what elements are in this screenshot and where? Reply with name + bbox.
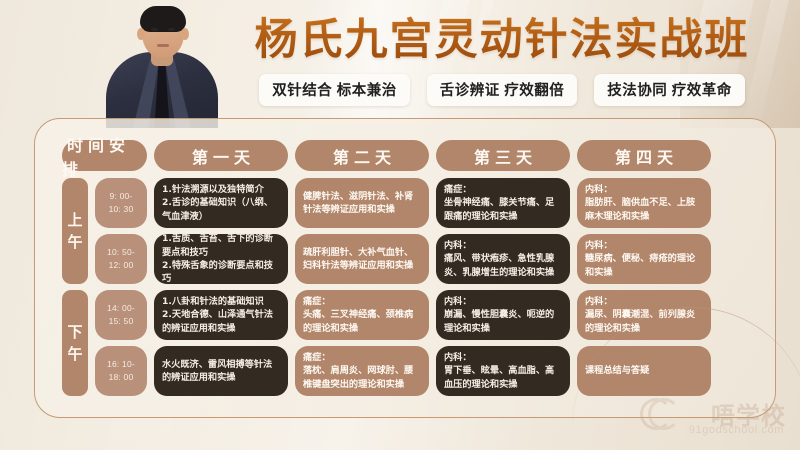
time-slot-group-afternoon: 14: 00- 15: 50 16: 10- 18: 00 [95, 290, 147, 396]
schedule-cell-d2-s1: 健脾针法、滋阴针法、补肾针法等辨证应用和实操 [295, 178, 429, 228]
time-slot-start: 14: 00- [107, 302, 135, 315]
time-slot-end: 10: 30 [109, 203, 134, 216]
period-label-morning: 上 午 [62, 178, 88, 284]
poster-root: 杨氏九宫灵动针法实战班 双针结合 标本兼治 舌诊辨证 疗效翻倍 技法协同 疗效革… [0, 0, 800, 450]
watermark: 唔学校 91godschool.com [640, 396, 790, 442]
cell-lead: 痛症： [303, 351, 421, 364]
time-column-afternoon: 下 午 14: 00- 15: 50 16: 10- 18: 00 [62, 290, 147, 396]
watermark-brand-en: 91godschool.com [689, 424, 784, 436]
schedule-cell-d2-s2: 疏肝利胆针、大补气血针、妇科针法等辨证应用和实操 [295, 234, 429, 284]
cell-body: 1.舌质、舌苔、舌下的诊断要点和技巧2.特殊舌象的诊断要点和技巧 [162, 232, 280, 285]
time-slot-start: 10: 50- [107, 246, 135, 259]
schedule-cell-d3-s3: 内科： 崩漏、慢性胆囊炎、呃逆的理论和实操 [436, 290, 570, 340]
time-slot-start: 9: 00- [110, 190, 133, 203]
time-column-morning: 上 午 9: 00- 10: 30 10: 50- 12: 00 [62, 178, 147, 284]
schedule-cell-d3-s2: 内科： 痛风、带状疱疹、急性乳腺炎、乳腺增生的理论和实操 [436, 234, 570, 284]
period-char: 下 [67, 321, 82, 344]
cell-body: 崩漏、慢性胆囊炎、呃逆的理论和实操 [444, 308, 562, 335]
schedule-cell-d4-s2: 内科： 糖尿病、便秘、痔疮的理论和实操 [577, 234, 711, 284]
time-slot-2: 10: 50- 12: 00 [95, 234, 147, 284]
time-slot-3: 14: 00- 15: 50 [95, 290, 147, 340]
table-row: 上 午 9: 00- 10: 30 10: 50- 12: 00 [62, 178, 768, 284]
schedule-cell-d3-s1: 痛症： 坐骨神经痛、膝关节痛、足跟痛的理论和实操 [436, 178, 570, 228]
page-title: 杨氏九宫灵动针法实战班 [222, 8, 782, 64]
schedule-cell-d1-s4: 水火既济、雷风相搏等针法的辨证应用和实操 [154, 346, 288, 396]
schedule-cell-d1-s2: 1.舌质、舌苔、舌下的诊断要点和技巧2.特殊舌象的诊断要点和技巧 [154, 234, 288, 284]
column-header-day1: 第一天 [154, 140, 288, 171]
cell-lead: 内科： [444, 351, 562, 364]
cell-body: 疏肝利胆针、大补气血针、妇科针法等辨证应用和实操 [303, 246, 421, 273]
period-label-afternoon: 下 午 [62, 290, 88, 396]
period-char: 上 [67, 209, 82, 232]
cell-body: 脂肪肝、脑供血不足、上肢麻木理论和实操 [585, 196, 703, 223]
tagline-pill-1: 双针结合 标本兼治 [259, 74, 410, 106]
schedule-cell-d2-s3: 痛症： 头痛、三叉神经痛、颈椎病的理论和实操 [295, 290, 429, 340]
schedule-cell-d2-s4: 痛症： 落枕、肩周炎、网球肘、腰椎键盘突出的理论和实操 [295, 346, 429, 396]
cell-body: 水火既济、雷风相搏等针法的辨证应用和实操 [162, 358, 280, 385]
cell-body: 1.八卦和针法的基础知识2.天地合德、山泽通气针法的辨证应用和实操 [162, 295, 280, 335]
time-slot-start: 16: 10- [107, 358, 135, 371]
period-char: 午 [67, 343, 82, 366]
cell-lead: 内科： [585, 239, 703, 252]
cell-body: 健脾针法、滋阴针法、补肾针法等辨证应用和实操 [303, 190, 421, 217]
cell-lead: 痛症： [303, 295, 421, 308]
day4-morning-column: 内科： 脂肪肝、脑供血不足、上肢麻木理论和实操 内科： 糖尿病、便秘、痔疮的理论… [577, 178, 711, 284]
cell-body: 糖尿病、便秘、痔疮的理论和实操 [585, 252, 703, 279]
day2-morning-column: 健脾针法、滋阴针法、补肾针法等辨证应用和实操 疏肝利胆针、大补气血针、妇科针法等… [295, 178, 429, 284]
cell-body: 落枕、肩周炎、网球肘、腰椎键盘突出的理论和实操 [303, 364, 421, 391]
watermark-ring-icon [648, 398, 680, 430]
time-slot-4: 16: 10- 18: 00 [95, 346, 147, 396]
cell-lead: 内科： [585, 183, 703, 196]
cell-body: 胃下垂、眩晕、高血脂、高血压的理论和实操 [444, 364, 562, 391]
tagline-pill-group: 双针结合 标本兼治 舌诊辨证 疗效翻倍 技法协同 疗效革命 [222, 74, 782, 106]
cell-body: 头痛、三叉神经痛、颈椎病的理论和实操 [303, 308, 421, 335]
cell-lead: 痛症： [444, 183, 562, 196]
time-slot-end: 15: 50 [109, 315, 134, 328]
column-header-time: 时间安排 [62, 140, 147, 171]
day1-morning-column: 1.针法溯源以及独特简介2.舌诊的基础知识（八纲、气血津液） 1.舌质、舌苔、舌… [154, 178, 288, 284]
column-header-day3: 第三天 [436, 140, 570, 171]
column-header-day4: 第四天 [577, 140, 711, 171]
tagline-pill-3: 技法协同 疗效革命 [594, 74, 745, 106]
table-header-row: 时间安排 第一天 第二天 第三天 第四天 [62, 140, 768, 171]
time-slot-1: 9: 00- 10: 30 [95, 178, 147, 228]
day2-afternoon-column: 痛症： 头痛、三叉神经痛、颈椎病的理论和实操 痛症： 落枕、肩周炎、网球肘、腰椎… [295, 290, 429, 396]
schedule-cell-d3-s4: 内科： 胃下垂、眩晕、高血脂、高血压的理论和实操 [436, 346, 570, 396]
cell-lead: 内科： [444, 295, 562, 308]
time-slot-end: 18: 00 [109, 371, 134, 384]
schedule-cell-d1-s3: 1.八卦和针法的基础知识2.天地合德、山泽通气针法的辨证应用和实操 [154, 290, 288, 340]
day3-afternoon-column: 内科： 崩漏、慢性胆囊炎、呃逆的理论和实操 内科： 胃下垂、眩晕、高血脂、高血压… [436, 290, 570, 396]
cell-body: 坐骨神经痛、膝关节痛、足跟痛的理论和实操 [444, 196, 562, 223]
instructor-portrait [104, 0, 220, 128]
cell-body: 痛风、带状疱疹、急性乳腺炎、乳腺增生的理论和实操 [444, 252, 562, 279]
schedule-cell-d4-s1: 内科： 脂肪肝、脑供血不足、上肢麻木理论和实操 [577, 178, 711, 228]
time-slot-end: 12: 00 [109, 259, 134, 272]
cell-body: 1.针法溯源以及独特简介2.舌诊的基础知识（八纲、气血津液） [162, 183, 280, 223]
time-slot-group-morning: 9: 00- 10: 30 10: 50- 12: 00 [95, 178, 147, 284]
tagline-pill-2: 舌诊辨证 疗效翻倍 [427, 74, 578, 106]
column-header-day2: 第二天 [295, 140, 429, 171]
schedule-cell-d1-s1: 1.针法溯源以及独特简介2.舌诊的基础知识（八纲、气血津液） [154, 178, 288, 228]
day1-afternoon-column: 1.八卦和针法的基础知识2.天地合德、山泽通气针法的辨证应用和实操 水火既济、雷… [154, 290, 288, 396]
period-char: 午 [67, 231, 82, 254]
day3-morning-column: 痛症： 坐骨神经痛、膝关节痛、足跟痛的理论和实操 内科： 痛风、带状疱疹、急性乳… [436, 178, 570, 284]
cell-lead: 内科： [444, 239, 562, 252]
